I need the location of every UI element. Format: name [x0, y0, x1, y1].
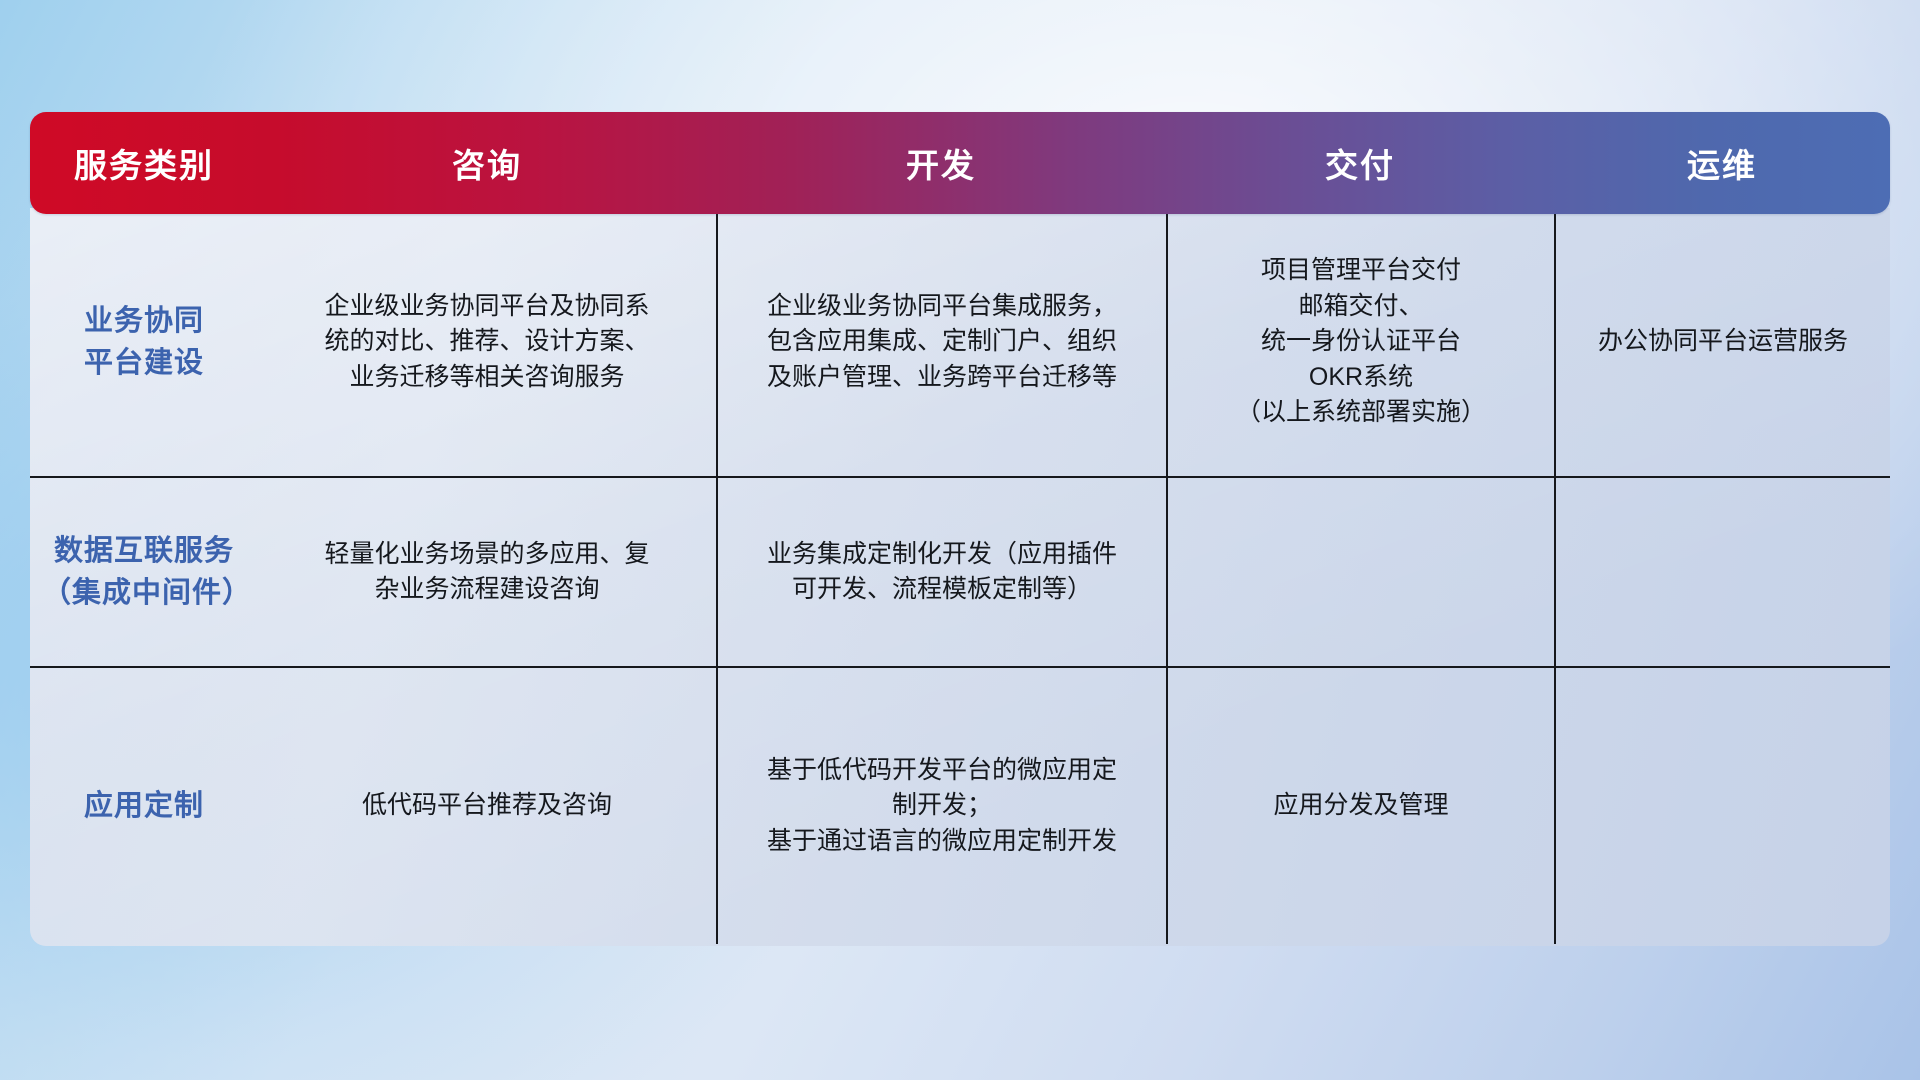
cell-operations	[1554, 668, 1890, 944]
cell-development: 基于低代码开发平台的微应用定 制开发； 基于通过语言的微应用定制开发	[716, 668, 1166, 944]
cell-development: 业务集成定制化开发（应用插件 可开发、流程模板定制等）	[716, 478, 1166, 666]
cell-operations	[1554, 478, 1890, 666]
cell-development: 企业级业务协同平台集成服务， 包含应用集成、定制门户、组织 及账户管理、业务跨平…	[716, 208, 1166, 476]
row-category-label: 业务协同 平台建设	[30, 208, 258, 476]
slide-canvas: 服务类别 咨询 开发 交付 运维 业务协同 平台建设 企业级业务协同平台及协同系…	[0, 0, 1920, 1080]
column-header-operations: 运维	[1554, 139, 1890, 187]
table-row: 业务协同 平台建设 企业级业务协同平台及协同系 统的对比、推荐、设计方案、 业务…	[30, 208, 1890, 476]
column-header-service-category: 服务类别	[30, 139, 258, 187]
cell-consulting: 轻量化业务场景的多应用、复 杂业务流程建设咨询	[258, 478, 716, 666]
column-header-consulting: 咨询	[258, 139, 716, 187]
table-header-row: 服务类别 咨询 开发 交付 运维	[30, 112, 1890, 214]
table-row: 应用定制 低代码平台推荐及咨询 基于低代码开发平台的微应用定 制开发； 基于通过…	[30, 666, 1890, 944]
table-body: 业务协同 平台建设 企业级业务协同平台及协同系 统的对比、推荐、设计方案、 业务…	[30, 208, 1890, 946]
column-header-delivery: 交付	[1166, 139, 1554, 187]
cell-consulting: 企业级业务协同平台及协同系 统的对比、推荐、设计方案、 业务迁移等相关咨询服务	[258, 208, 716, 476]
cell-delivery	[1166, 478, 1554, 666]
row-category-label: 应用定制	[30, 668, 258, 944]
column-header-development: 开发	[716, 139, 1166, 187]
table-row: 数据互联服务 （集成中间件） 轻量化业务场景的多应用、复 杂业务流程建设咨询 业…	[30, 476, 1890, 666]
cell-delivery: 应用分发及管理	[1166, 668, 1554, 944]
cell-consulting: 低代码平台推荐及咨询	[258, 668, 716, 944]
cell-operations: 办公协同平台运营服务	[1554, 208, 1890, 476]
service-category-table: 服务类别 咨询 开发 交付 运维 业务协同 平台建设 企业级业务协同平台及协同系…	[30, 112, 1890, 946]
row-category-label: 数据互联服务 （集成中间件）	[30, 478, 258, 666]
cell-delivery: 项目管理平台交付 邮箱交付、 统一身份认证平台 OKR系统 （以上系统部署实施）	[1166, 208, 1554, 476]
